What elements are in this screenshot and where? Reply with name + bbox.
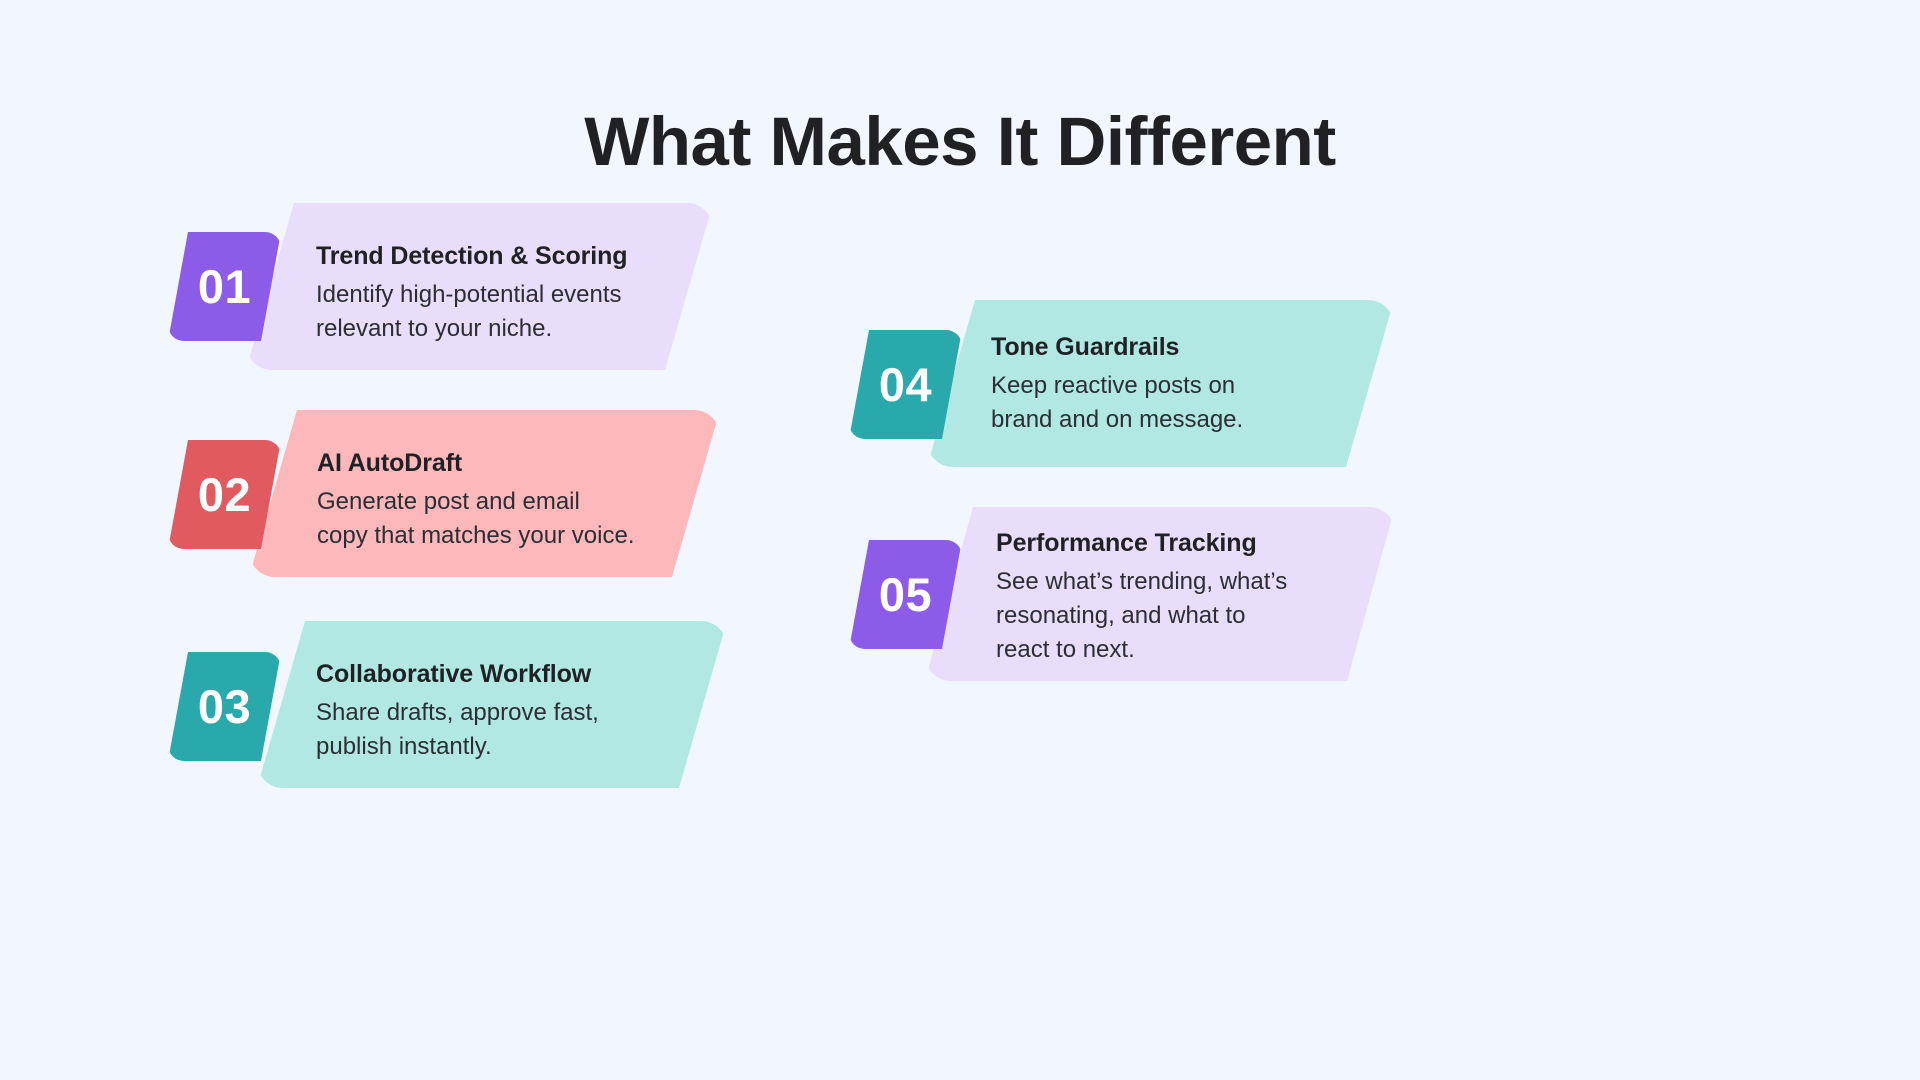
card-heading-01: Trend Detection & Scoring: [316, 241, 716, 272]
card-heading-02: AI AutoDraft: [317, 448, 717, 479]
card-text-02: AI AutoDraft Generate post and email cop…: [317, 448, 717, 553]
card-number-03: 03: [198, 683, 251, 730]
card-number-02: 02: [198, 471, 251, 518]
card-badge-03: 03: [168, 652, 281, 761]
card-text-05: Performance Tracking See what’s trending…: [996, 528, 1396, 667]
page-title: What Makes It Different: [0, 104, 1920, 180]
card-number-04: 04: [879, 361, 932, 408]
card-number-05: 05: [879, 571, 932, 618]
card-text-03: Collaborative Workflow Share drafts, app…: [316, 659, 716, 764]
card-text-01: Trend Detection & Scoring Identify high-…: [316, 241, 716, 346]
card-text-04: Tone Guardrails Keep reactive posts on b…: [991, 332, 1391, 437]
card-heading-04: Tone Guardrails: [991, 332, 1391, 363]
card-description-03: Share drafts, approve fast, publish inst…: [316, 696, 716, 764]
card-description-02: Generate post and email copy that matche…: [317, 485, 717, 553]
card-heading-03: Collaborative Workflow: [316, 659, 716, 690]
card-description-05: See what’s trending, what’s resonating, …: [996, 565, 1396, 667]
card-description-01: Identify high-potential events relevant …: [316, 278, 716, 346]
card-description-04: Keep reactive posts on brand and on mess…: [991, 369, 1391, 437]
card-heading-05: Performance Tracking: [996, 528, 1396, 559]
card-number-01: 01: [198, 263, 251, 310]
